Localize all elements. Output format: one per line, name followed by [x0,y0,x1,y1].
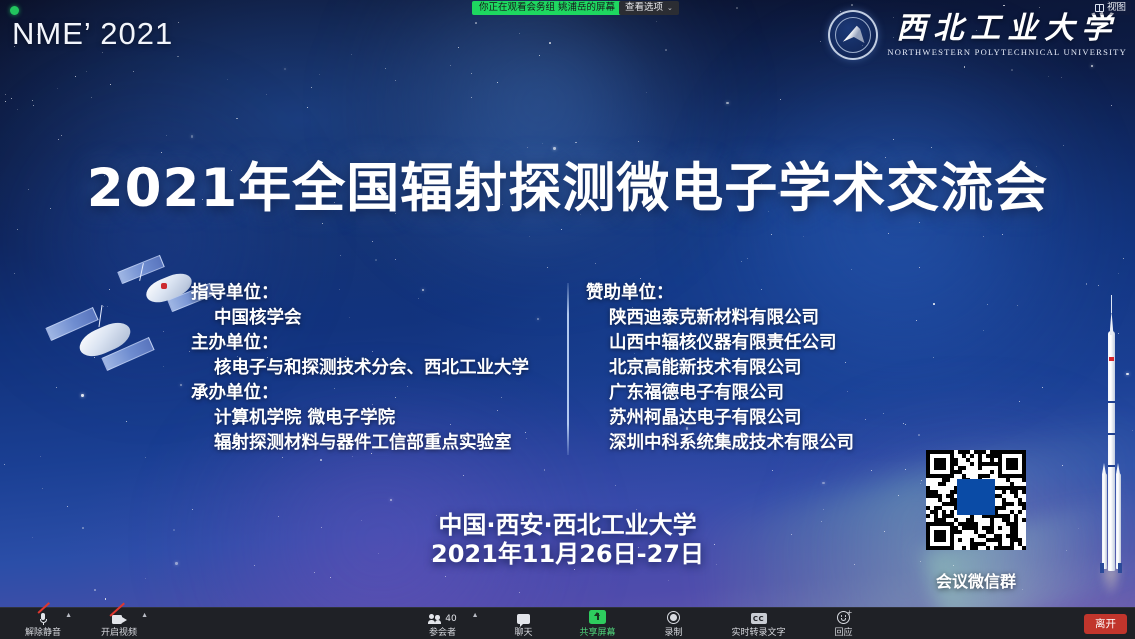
chevron-up-icon[interactable]: ▲ [472,612,479,619]
sponsor-header: 赞助单位： [586,281,1006,306]
closed-caption-icon: CC [751,609,767,624]
chat-bubble-icon [517,609,530,624]
qr-caption: 会议微信群 [911,568,1041,592]
view-options-button[interactable]: 查看选项 ⌄ [619,1,679,15]
grid-view-icon [1095,4,1104,12]
meeting-top-bar: 你正在观看会务组 姚浦岳的屏幕 查看选项 ⌄ 视图 [0,0,1135,16]
nebula-glow [330,0,750,270]
sponsor-item: 苏州柯晶达电子有限公司 [586,406,1006,431]
toolbar-chat-button[interactable]: 聊天 [497,608,551,639]
view-button-label: 视图 [1107,1,1126,15]
organizers-column: 指导单位：中国核学会主办单位：核电子与和探测技术分会、西北工业大学承办单位：计算… [191,281,561,456]
toolbar-mute-button[interactable]: 解除静音 ▲ [16,608,70,639]
microphone-muted-icon [40,609,47,624]
university-seal-icon [828,10,878,60]
toolbar-record-button[interactable]: 录制 [647,608,701,639]
qr-center-block [957,479,995,515]
toolbar-video-label: 开启视频 [101,625,137,638]
share-screen-icon [589,609,606,624]
sponsor-item: 广东福德电子有限公司 [586,381,1006,406]
organizer-item: 中国核学会 [191,306,561,331]
university-name-cn: 西北工业大学 [896,13,1118,45]
participants-icon: 40 [428,609,456,624]
toolbar-captions-label: 实时转录文字 [731,625,785,638]
column-divider [567,283,569,455]
wechat-qr-code [926,450,1026,550]
sponsor-item: 北京高能新技术有限公司 [586,356,1006,381]
organizer-item: 辐射探测材料与器件工信部重点实验室 [191,431,561,456]
toolbar-record-label: 录制 [664,625,682,638]
organizer-sponsor-columns: 指导单位：中国核学会主办单位：核电子与和探测技术分会、西北工业大学承办单位：计算… [0,281,1135,461]
view-options-label: 查看选项 [625,1,663,15]
organizer-item: 计算机学院 微电子学院 [191,406,561,431]
chevron-up-icon[interactable]: ▲ [65,612,72,619]
toolbar-participants-button[interactable]: 40 参会者 ▲ [411,608,475,639]
recording-indicator-icon [10,6,19,15]
organizer-header: 主办单位： [191,331,561,356]
university-name-en: NORTHWESTERN POLYTECHNICAL UNIVERSITY [887,47,1127,57]
university-logo: 西北工业大学 NORTHWESTERN POLYTECHNICAL UNIVER… [828,10,1127,60]
participants-count: 40 [445,614,456,624]
meeting-toolbar: 解除静音 ▲ 开启视频 ▲ 40 参会者 ▲ 聊天 [0,607,1135,639]
camera-off-icon [112,609,127,624]
organizer-item: 核电子与和探测技术分会、西北工业大学 [191,356,561,381]
record-icon [667,609,680,624]
sponsors-column: 赞助单位：陕西迪泰克新材料有限公司山西中辐核仪器有限责任公司北京高能新技术有限公… [586,281,1006,456]
slide-title: 2021年全国辐射探测微电子学术交流会 [0,146,1135,222]
toolbar-share-screen-button[interactable]: 共享屏幕 [571,608,625,639]
chevron-up-icon[interactable]: ▲ [141,612,148,619]
toolbar-captions-button[interactable]: CC 实时转录文字 [723,608,795,639]
conference-brand-mark: NME’ 2021 [12,16,173,52]
leave-meeting-button[interactable]: 离开 [1084,614,1127,634]
toolbar-reactions-button[interactable]: + 回应 [817,608,871,639]
chevron-down-icon: ⌄ [667,1,673,15]
organizer-header: 承办单位： [191,381,561,406]
sponsor-item: 山西中辐核仪器有限责任公司 [586,331,1006,356]
toolbar-participants-label: 参会者 [429,625,456,638]
zoom-meeting-window: NME’ 2021 西北工业大学 NORTHWESTERN POLYTECHNI… [0,0,1135,639]
sponsor-item: 陕西迪泰克新材料有限公司 [586,306,1006,331]
share-status-banner: 你正在观看会务组 姚浦岳的屏幕 [472,1,622,15]
shared-screen-slide: NME’ 2021 西北工业大学 NORTHWESTERN POLYTECHNI… [0,0,1135,607]
toolbar-reactions-label: 回应 [834,625,852,638]
toolbar-share-screen-label: 共享屏幕 [579,625,615,638]
reaction-smiley-icon: + [837,609,850,624]
toolbar-mute-label: 解除静音 [25,625,61,638]
view-layout-button[interactable]: 视图 [1090,1,1131,15]
toolbar-video-button[interactable]: 开启视频 ▲ [92,608,146,639]
organizer-header: 指导单位： [191,281,561,306]
